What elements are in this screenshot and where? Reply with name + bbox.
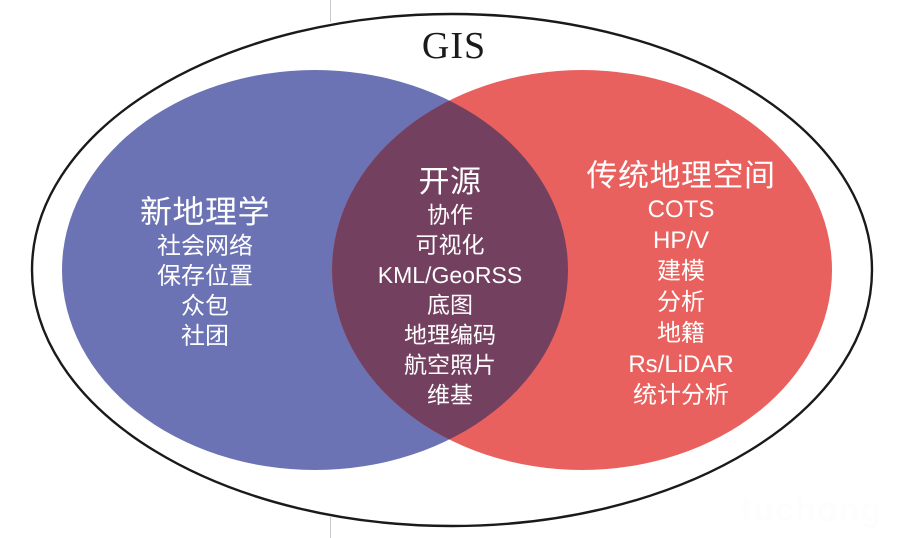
venn-shapes (0, 0, 908, 538)
venn-diagram: GIS 新地理学 社会网络 保存位置 众包 社团 开源 协作 可视化 KML/G… (0, 0, 908, 538)
